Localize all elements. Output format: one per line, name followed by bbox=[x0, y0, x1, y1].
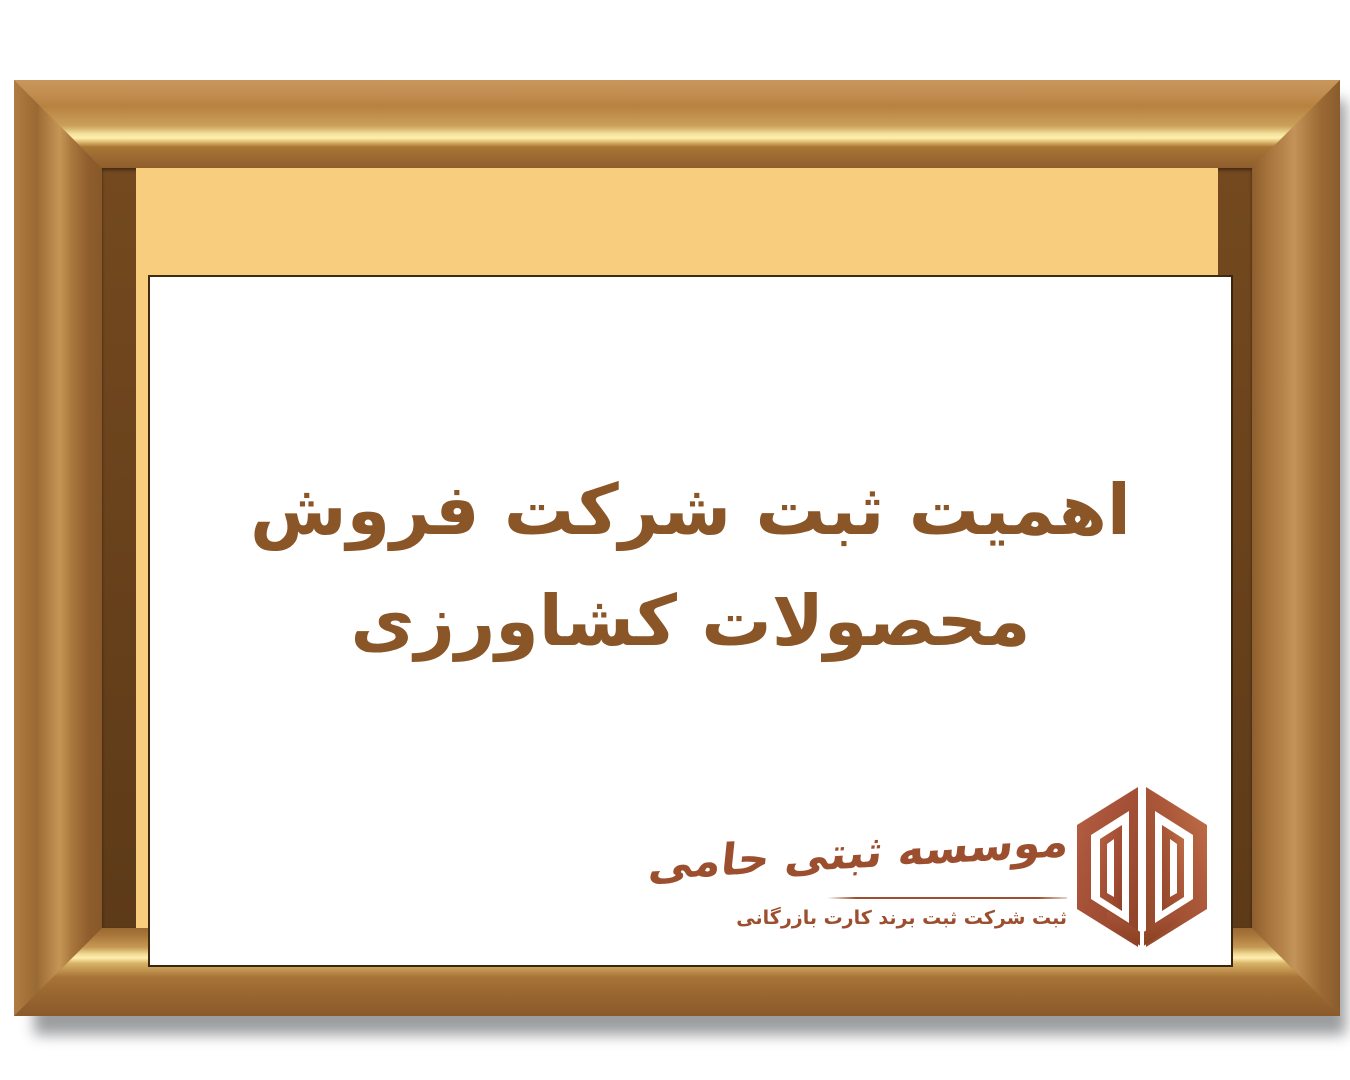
picture-frame: اهمیت ثبت شرکت فروش محصولات کشاورزی bbox=[14, 80, 1340, 1016]
page-title-line-2: محصولات کشاورزی bbox=[190, 566, 1191, 677]
brand-logo-inner: موسسه ثبتی حامی ثبت شرکت ثبت برند کارت ب… bbox=[819, 769, 1219, 959]
frame-moulding-right bbox=[1252, 80, 1340, 1016]
brand-tagline: ثبت شرکت ثبت برند کارت بازرگانی bbox=[825, 905, 1067, 931]
page-title: اهمیت ثبت شرکت فروش محصولات کشاورزی bbox=[150, 455, 1231, 676]
frame-moulding-top bbox=[14, 80, 1340, 168]
canvas-area: اهمیت ثبت شرکت فروش محصولات کشاورزی bbox=[150, 277, 1231, 965]
brand-wordmark: موسسه ثبتی حامی bbox=[817, 789, 1075, 908]
hexagon-monogram-icon bbox=[1067, 781, 1217, 953]
page-title-line-1: اهمیت ثبت شرکت فروش bbox=[190, 455, 1191, 566]
page-stage: اهمیت ثبت شرکت فروش محصولات کشاورزی bbox=[0, 0, 1350, 1080]
brand-logo: موسسه ثبتی حامی ثبت شرکت ثبت برند کارت ب… bbox=[819, 769, 1219, 959]
frame-moulding-left bbox=[14, 80, 102, 1016]
brand-divider bbox=[827, 897, 1067, 899]
